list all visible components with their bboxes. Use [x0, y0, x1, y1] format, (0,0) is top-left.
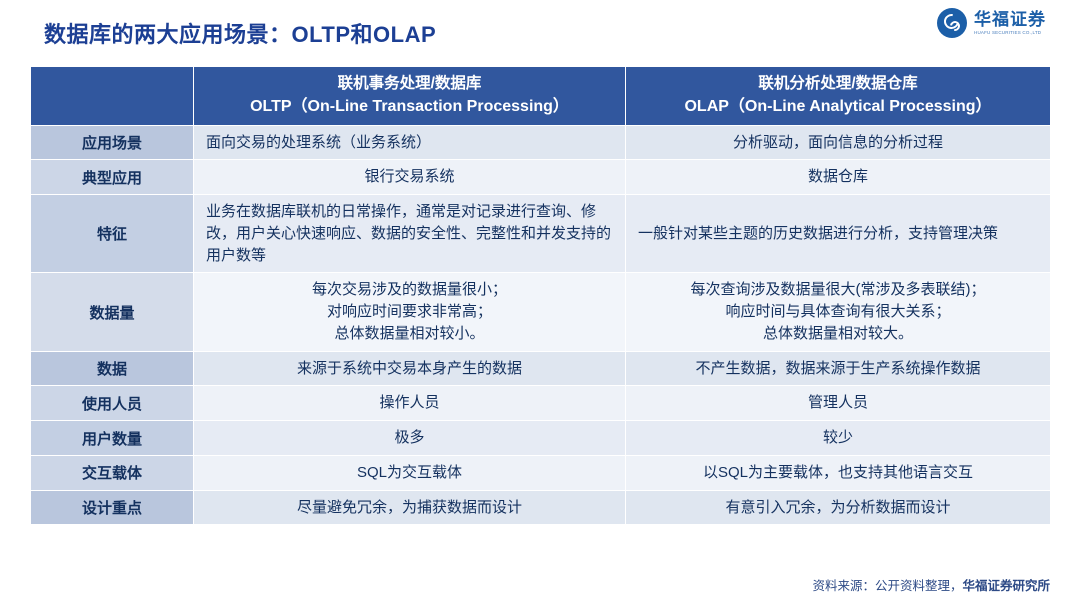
- slide-header: 数据库的两大应用场景：OLTP和OLAP 华福证券 HUAFU SECURITI…: [0, 0, 1080, 58]
- table-row: 数据量 每次交易涉及的数据量很小； 对响应时间要求非常高； 总体数据量相对较小。…: [31, 273, 1051, 351]
- column-header-oltp-line2: OLTP（On-Line Transaction Processing）: [202, 95, 617, 118]
- row-value-olap: 不产生数据，数据来源于生产系统操作数据: [626, 351, 1051, 386]
- table-row: 数据 来源于系统中交易本身产生的数据 不产生数据，数据来源于生产系统操作数据: [31, 351, 1051, 386]
- comparison-table-wrap: 联机事务处理/数据库 OLTP（On-Line Transaction Proc…: [30, 66, 1050, 525]
- row-label: 交互载体: [31, 455, 194, 490]
- table-row: 用户数量 极多 较少: [31, 421, 1051, 456]
- logo-name-en: HUAFU SECURITIES CO.,LTD: [974, 31, 1046, 36]
- row-value-oltp: 尽量避免冗余，为捕获数据而设计: [194, 490, 626, 525]
- source-organization: 华福证券研究所: [962, 579, 1050, 593]
- row-label: 数据量: [31, 273, 194, 351]
- row-value-oltp: 极多: [194, 421, 626, 456]
- comparison-table: 联机事务处理/数据库 OLTP（On-Line Transaction Proc…: [30, 66, 1051, 525]
- row-value-oltp: 业务在数据库联机的日常操作，通常是对记录进行查询、修改，用户关心快速响应、数据的…: [194, 195, 626, 273]
- table-row: 使用人员 操作人员 管理人员: [31, 386, 1051, 421]
- row-value-oltp: 面向交易的处理系统（业务系统）: [194, 125, 626, 160]
- row-value-olap: 每次查询涉及数据量很大(常涉及多表联结)； 响应时间与具体查询有很大关系； 总体…: [626, 273, 1051, 351]
- row-value-olap: 较少: [626, 421, 1051, 456]
- column-header-olap: 联机分析处理/数据仓库 OLAP（On-Line Analytical Proc…: [626, 67, 1051, 126]
- row-value-olap: 分析驱动，面向信息的分析过程: [626, 125, 1051, 160]
- table-corner-cell: [31, 67, 194, 126]
- column-header-oltp-line1: 联机事务处理/数据库: [202, 73, 617, 95]
- column-header-oltp: 联机事务处理/数据库 OLTP（On-Line Transaction Proc…: [194, 67, 626, 126]
- logo-text: 华福证券 HUAFU SECURITIES CO.,LTD: [974, 11, 1046, 36]
- row-value-oltp: SQL为交互载体: [194, 455, 626, 490]
- logo-name-cn: 华福证券: [974, 11, 1046, 28]
- row-label: 特征: [31, 195, 194, 273]
- row-value-olap: 有意引入冗余，为分析数据而设计: [626, 490, 1051, 525]
- row-label: 用户数量: [31, 421, 194, 456]
- row-label: 数据: [31, 351, 194, 386]
- huafu-logo-icon: [937, 8, 967, 38]
- row-value-oltp: 操作人员: [194, 386, 626, 421]
- row-label: 典型应用: [31, 160, 194, 195]
- column-header-olap-line1: 联机分析处理/数据仓库: [634, 73, 1042, 95]
- table-row: 特征 业务在数据库联机的日常操作，通常是对记录进行查询、修改，用户关心快速响应、…: [31, 195, 1051, 273]
- row-value-oltp: 银行交易系统: [194, 160, 626, 195]
- row-value-olap: 以SQL为主要载体，也支持其他语言交互: [626, 455, 1051, 490]
- row-label: 设计重点: [31, 490, 194, 525]
- company-logo: 华福证券 HUAFU SECURITIES CO.,LTD: [937, 8, 1046, 38]
- table-row: 交互载体 SQL为交互载体 以SQL为主要载体，也支持其他语言交互: [31, 455, 1051, 490]
- source-note: 资料来源：公开资料整理，华福证券研究所: [812, 575, 1050, 594]
- table-row: 应用场景 面向交易的处理系统（业务系统） 分析驱动，面向信息的分析过程: [31, 125, 1051, 160]
- column-header-olap-line2: OLAP（On-Line Analytical Processing）: [634, 95, 1042, 118]
- row-value-olap: 一般针对某些主题的历史数据进行分析，支持管理决策: [626, 195, 1051, 273]
- row-value-olap: 管理人员: [626, 386, 1051, 421]
- table-row: 典型应用 银行交易系统 数据仓库: [31, 160, 1051, 195]
- row-label: 使用人员: [31, 386, 194, 421]
- table-row: 设计重点 尽量避免冗余，为捕获数据而设计 有意引入冗余，为分析数据而设计: [31, 490, 1051, 525]
- row-value-oltp: 来源于系统中交易本身产生的数据: [194, 351, 626, 386]
- page-title: 数据库的两大应用场景：OLTP和OLAP: [44, 17, 436, 49]
- row-label: 应用场景: [31, 125, 194, 160]
- slide: 数据库的两大应用场景：OLTP和OLAP 华福证券 HUAFU SECURITI…: [0, 0, 1080, 608]
- source-prefix: 资料来源：公开资料整理，: [812, 579, 962, 593]
- row-value-olap: 数据仓库: [626, 160, 1051, 195]
- table-header-row: 联机事务处理/数据库 OLTP（On-Line Transaction Proc…: [31, 67, 1051, 126]
- row-value-oltp: 每次交易涉及的数据量很小； 对响应时间要求非常高； 总体数据量相对较小。: [194, 273, 626, 351]
